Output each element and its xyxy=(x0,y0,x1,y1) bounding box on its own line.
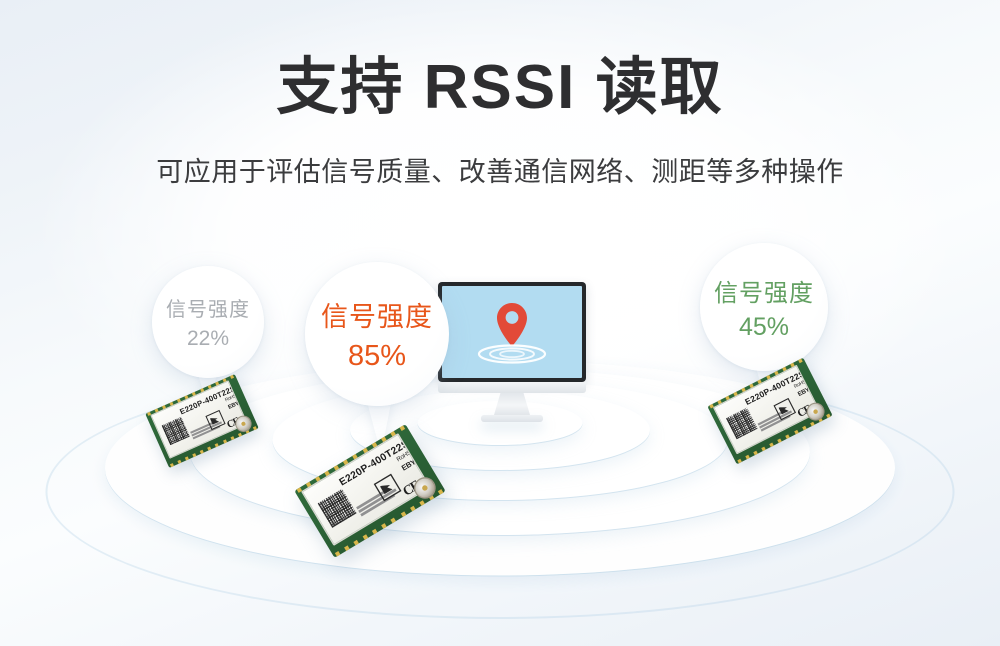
monitor xyxy=(438,282,586,422)
monitor-chin xyxy=(438,382,586,393)
rf-module-left: E220P-400T22S RoHS EBYTE CE xyxy=(145,374,259,468)
signal-bubble-center[interactable]: 信号强度 85% xyxy=(305,262,449,406)
signal-value: 85% xyxy=(348,340,406,373)
monitor-stand xyxy=(494,393,530,415)
promo-banner: 支持 RSSI 读取 可应用于评估信号质量、改善通信网络、测距等多种操作 xyxy=(0,0,1000,646)
signal-label: 信号强度 xyxy=(714,273,814,308)
signal-bubble-left[interactable]: 信号强度 22% xyxy=(152,266,264,378)
heading-block: 支持 RSSI 读取 xyxy=(0,52,1000,123)
qr-code-icon xyxy=(318,489,357,528)
signal-label: 信号强度 xyxy=(166,293,250,322)
signal-bubble-right[interactable]: 信号强度 45% xyxy=(700,243,828,371)
monitor-screen xyxy=(442,286,582,378)
rf-module-center: E220P-400T22S RoHS EBYTE CE xyxy=(294,424,445,558)
page-title: 支持 RSSI 读取 xyxy=(0,52,1000,123)
signal-value: 22% xyxy=(187,327,229,351)
signal-value: 45% xyxy=(739,313,789,342)
rf-module-right: E220P-400T22S RoHS EBYTE CE xyxy=(707,358,832,465)
monitor-base xyxy=(481,415,543,422)
page-subtitle: 可应用于评估信号质量、改善通信网络、测距等多种操作 xyxy=(0,150,1000,189)
qr-code-icon xyxy=(726,408,758,440)
screen-ripple-icon xyxy=(477,344,547,364)
monitor-bezel xyxy=(438,282,586,382)
qr-code-icon xyxy=(162,417,190,445)
signal-label: 信号强度 xyxy=(321,295,433,334)
